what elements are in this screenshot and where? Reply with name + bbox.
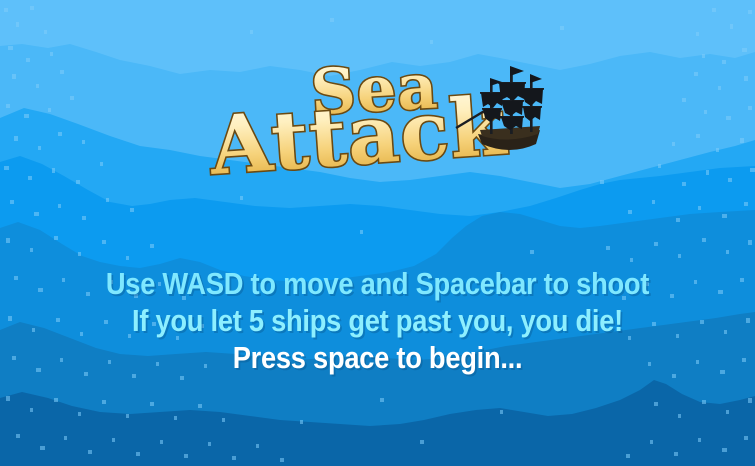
wave-band-5 [0, 0, 755, 466]
wave-band-4 [0, 0, 755, 466]
instruction-lives-line: If you let 5 ships get past you, you die… [45, 305, 709, 336]
instruction-start-prompt[interactable]: Press space to begin... [45, 342, 709, 373]
wave-band-3 [0, 0, 755, 466]
wave-band-7 [0, 0, 755, 466]
logo-word-attack: Attack [206, 78, 510, 193]
wave-band-2 [0, 0, 755, 466]
game-screen[interactable]: Sea Attack [0, 0, 755, 466]
instruction-controls-line: Use WASD to move and Spacebar to shoot [45, 268, 709, 299]
wave-band-6 [0, 0, 755, 466]
logo-word-sea: Sea [309, 49, 440, 129]
game-title-logo: Sea Attack [0, 52, 755, 192]
instructions-block: Use WASD to move and Spacebar to shoot I… [0, 268, 755, 379]
pirate-ship-icon [456, 66, 544, 150]
bubble-speckle-field [0, 0, 755, 466]
